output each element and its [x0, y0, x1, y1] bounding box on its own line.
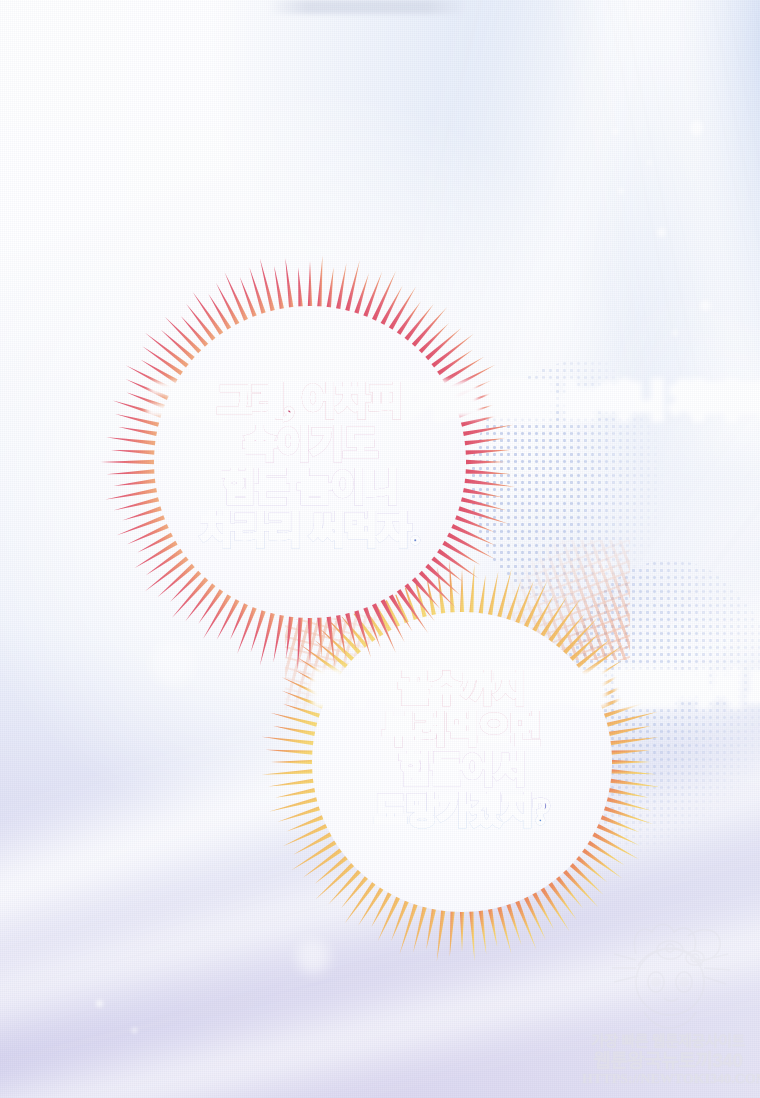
- speech-line: 골수까지: [312, 670, 612, 711]
- bokeh-dot: [647, 160, 652, 165]
- bokeh-dot: [700, 300, 711, 311]
- speech-line: 차라리 써먹자.: [150, 511, 470, 554]
- watermark-line-1: 가장 빠른 웹툰제공사이트: [582, 1034, 754, 1051]
- speech-line: 속이기도: [150, 425, 470, 468]
- top-edge-artifact: [268, 0, 468, 14]
- watermark-line-2: 웹툰왕국뉴토끼340: [582, 1051, 754, 1072]
- speech-text-lower: 골수까지 부려먹으면 힘들어서 도망가겠지?: [312, 670, 612, 832]
- bokeh-dot: [690, 120, 703, 136]
- bokeh-dot: [672, 330, 678, 336]
- watermark-line-3: HTTPS://NEWTOKI340.COM: [582, 1072, 754, 1088]
- speech-line: 도망가겠지?: [312, 792, 612, 833]
- speech-line: 힘든 놈이니: [150, 468, 470, 511]
- bokeh-dot: [96, 1000, 103, 1007]
- speech-line: 부려먹으면: [312, 711, 612, 752]
- speech-line: 힘들어서: [312, 751, 612, 792]
- speech-text-upper: 그래, 어차피 속이기도 힘든 놈이니 차라리 써먹자.: [150, 382, 470, 554]
- watermark-text: 가장 빠른 웹툰제공사이트 웹툰왕국뉴토끼340 HTTPS://NEWTOKI…: [582, 1034, 754, 1088]
- mascot-icon: [600, 920, 740, 1040]
- bokeh-dot: [132, 1028, 137, 1033]
- bokeh-dot: [618, 188, 624, 194]
- bokeh-dot: [612, 128, 619, 135]
- site-watermark: 가장 빠른 웹툰제공사이트 웹툰왕국뉴토끼340 HTTPS://NEWTOKI…: [582, 920, 758, 1096]
- speech-line: 그래, 어차피: [150, 382, 470, 425]
- webtoon-panel: 골수까지 부려먹으면 힘들어서 도망가겠지? 골수까지 부려먹으면 힘들어서 도…: [0, 0, 760, 1098]
- bokeh-dot: [657, 228, 666, 237]
